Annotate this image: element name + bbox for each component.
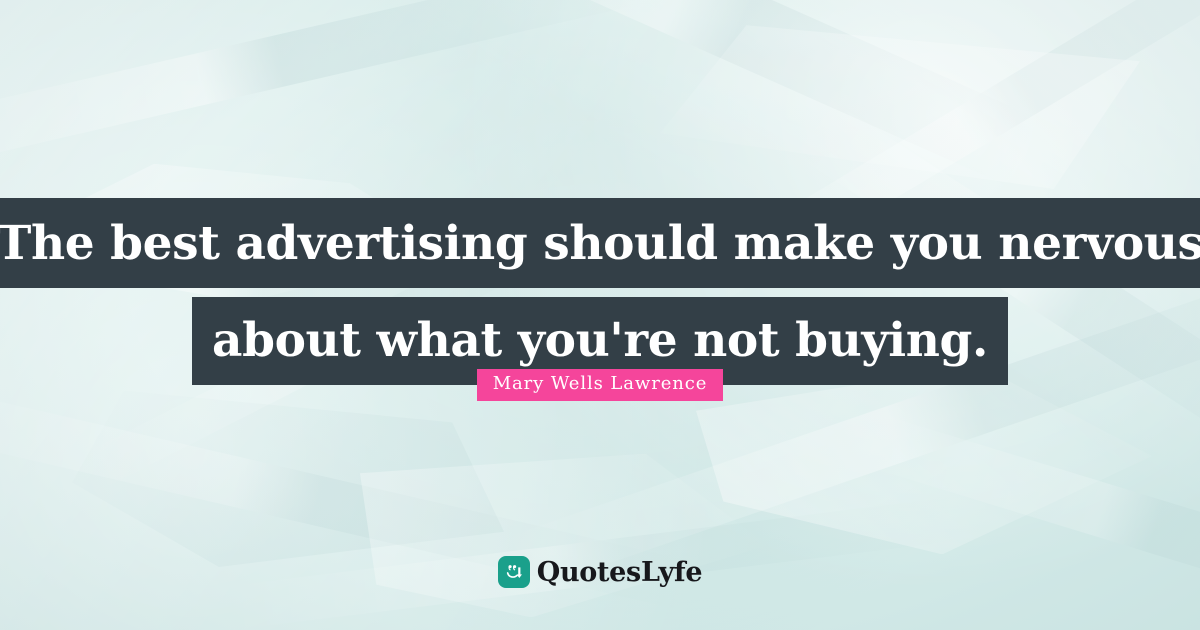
author-attribution: Mary Wells Lawrence — [0, 369, 1200, 401]
brand-logo[interactable]: QuotesLyfe — [0, 556, 1200, 588]
brand-name-label: QuotesLyfe — [537, 559, 703, 586]
author-name-badge: Mary Wells Lawrence — [477, 369, 724, 401]
quote-text-block: The best advertising should make you ner… — [0, 198, 1200, 385]
quote-smiley-icon — [498, 556, 530, 588]
quote-line-1: The best advertising should make you ner… — [0, 198, 1200, 288]
quote-image-card: The best advertising should make you ner… — [0, 0, 1200, 630]
